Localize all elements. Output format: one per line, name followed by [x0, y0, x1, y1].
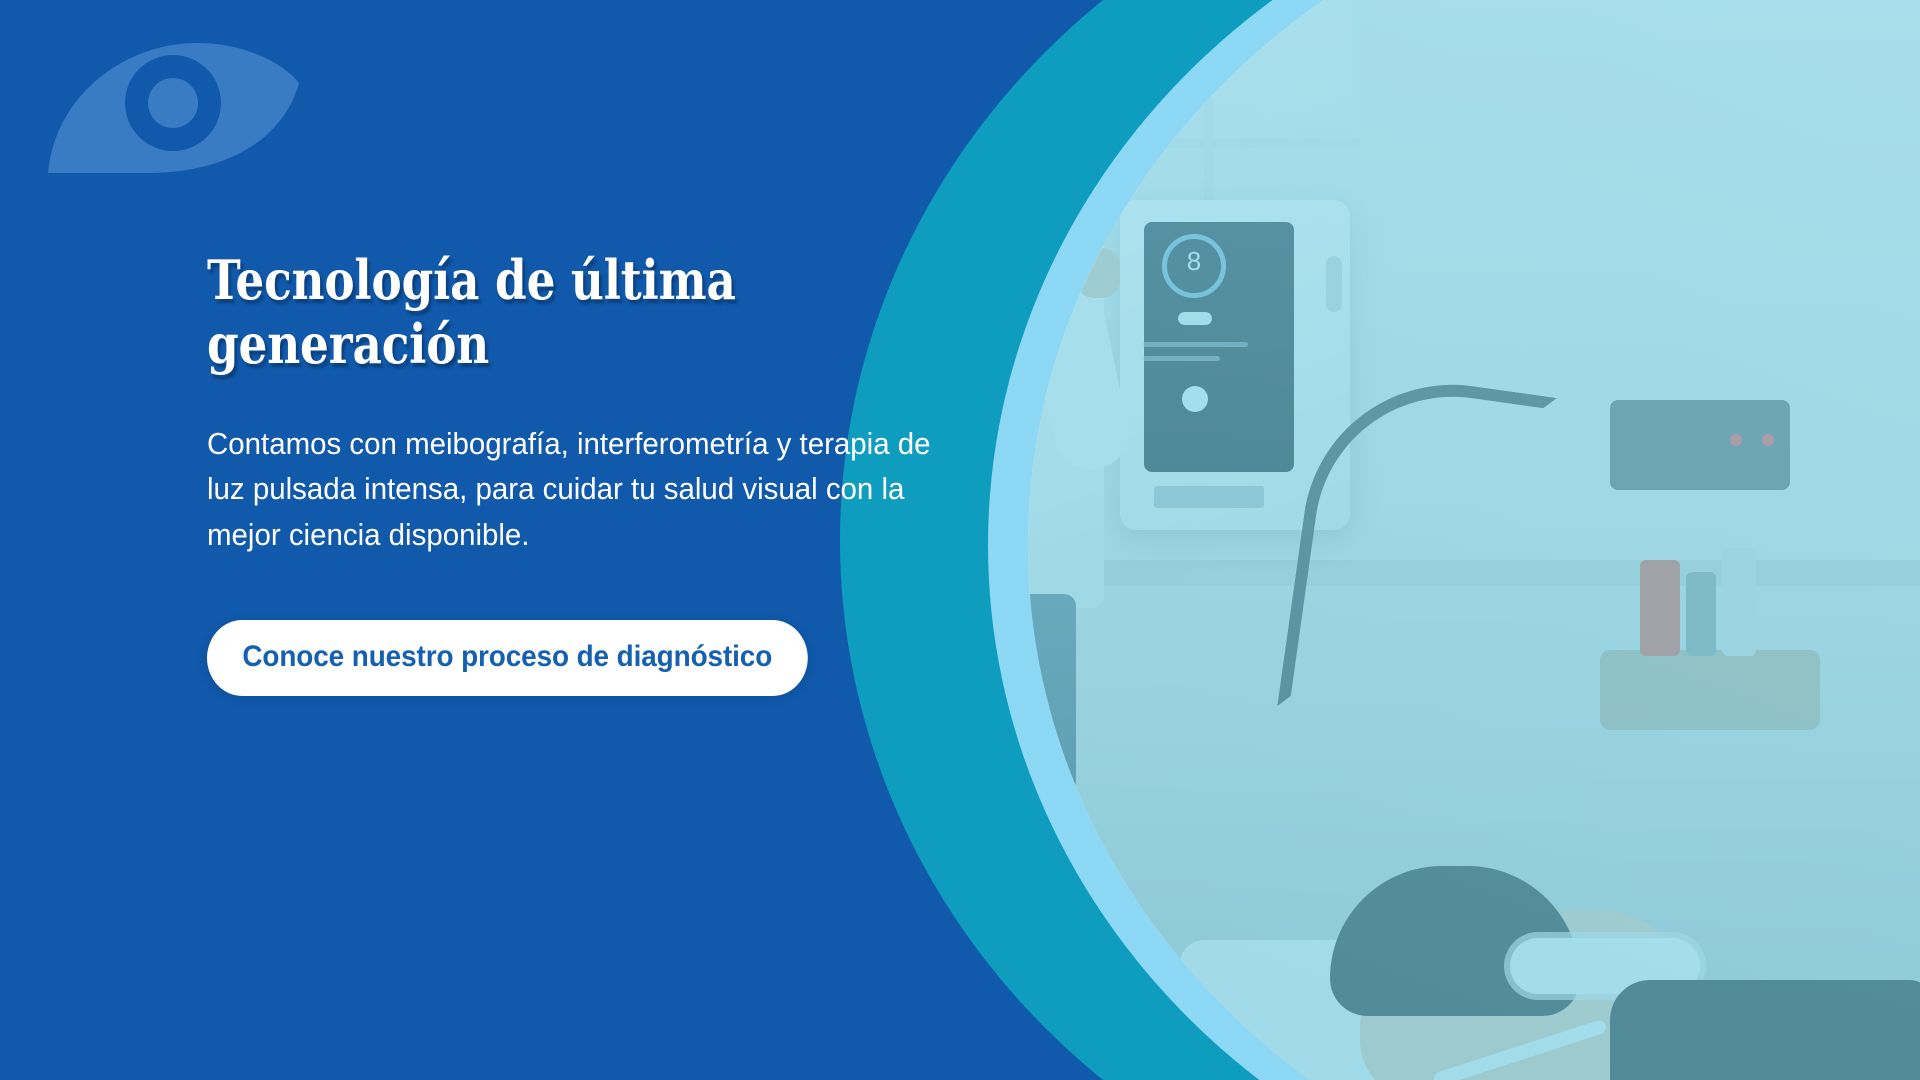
diagnostic-process-button[interactable]: Conoce nuestro proceso de diagnóstico — [207, 620, 808, 696]
page-title: Tecnología de última generación — [207, 248, 887, 377]
content-panel: Tecnología de última generación Contamos… — [0, 0, 1060, 1080]
hero-banner: 8 — [0, 0, 1920, 1080]
clinic-photo: 8 — [1028, 0, 1920, 1080]
eye-icon — [45, 35, 300, 175]
photo-clip-mask: 8 — [1028, 0, 1920, 1080]
hero-description: Contamos con meibografía, interferometrí… — [207, 377, 967, 559]
photo-gradient-overlay — [1028, 0, 1920, 1080]
hero-content: Tecnología de última generación Contamos… — [207, 248, 1017, 696]
